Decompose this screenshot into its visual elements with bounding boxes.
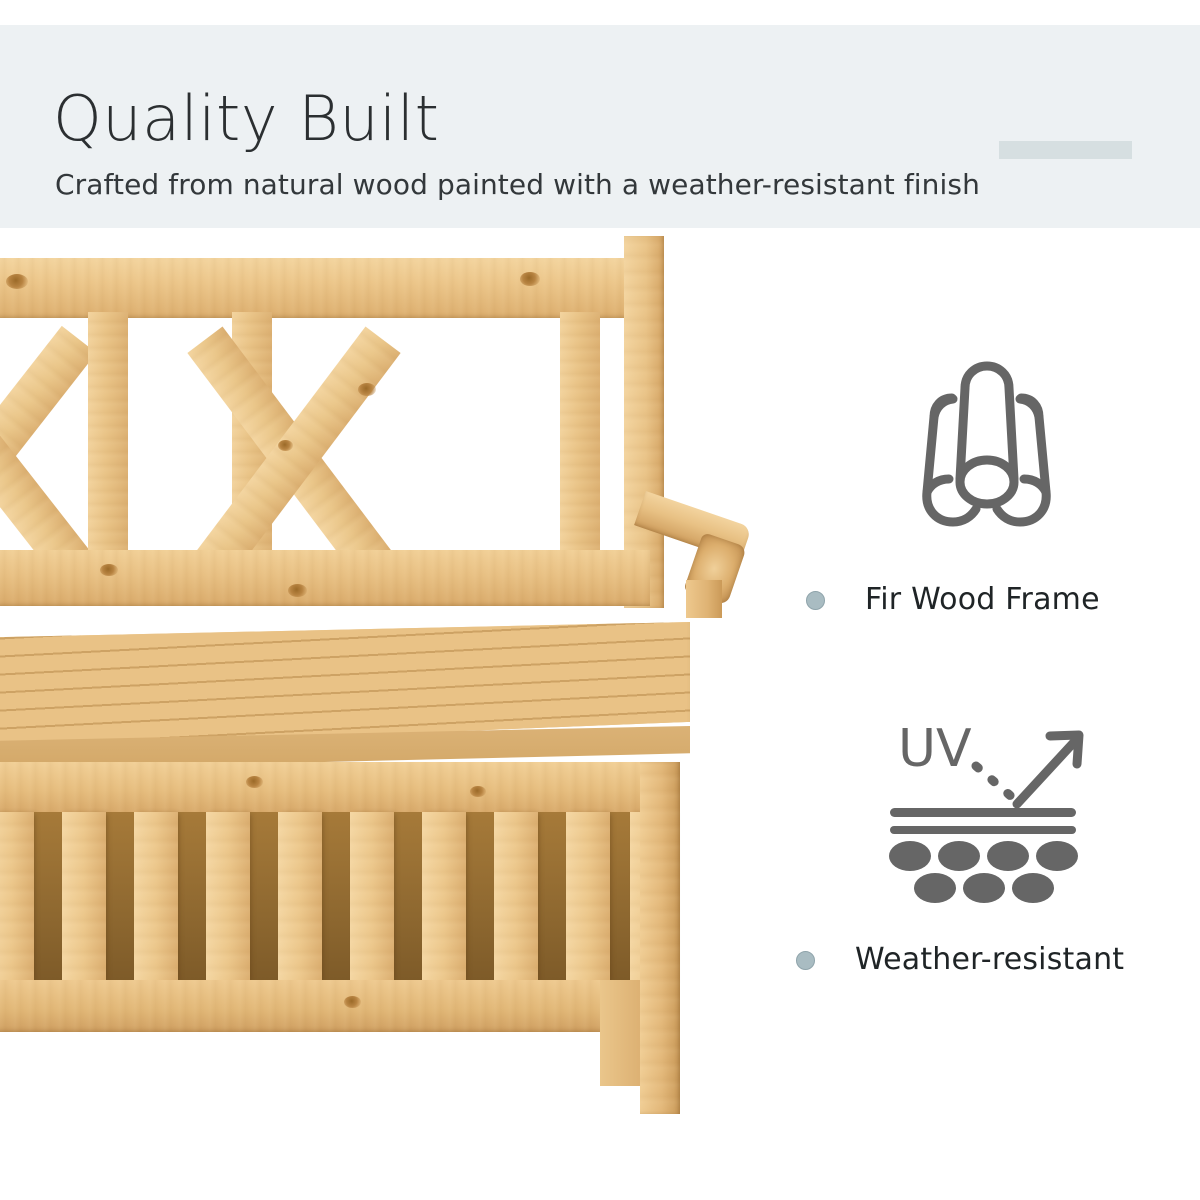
- storage-box-slat: [134, 812, 178, 984]
- storage-box-slat: [0, 812, 34, 984]
- page-subtitle: Crafted from natural wood painted with a…: [55, 168, 980, 202]
- storage-box-slat: [566, 812, 610, 984]
- feature-label-weather-resistant: Weather-resistant: [855, 942, 1124, 978]
- feature-label-row: Weather-resistant: [790, 942, 1200, 978]
- surface-line-bottom: [890, 826, 1076, 834]
- header-banner: Quality Built Crafted from natural wood …: [0, 25, 1200, 228]
- surface-line-top: [890, 808, 1076, 817]
- feature-label-fir-wood-frame: Fir Wood Frame: [865, 582, 1100, 618]
- backrest-bottom-rail: [0, 550, 650, 606]
- uv-text: UV: [898, 719, 972, 779]
- brand-logo-placeholder: [999, 141, 1132, 159]
- infographic-page: Quality Built Crafted from natural wood …: [0, 0, 1200, 1200]
- bench-leg-inner: [600, 980, 642, 1086]
- storage-box-slat: [206, 812, 250, 984]
- storage-box-slat: [494, 812, 538, 984]
- backrest-slat: [560, 312, 600, 556]
- storage-box-slat: [62, 812, 106, 984]
- bench-leg-right: [640, 762, 680, 1114]
- wooden-storage-bench-photo: [0, 228, 790, 1200]
- uv-weather-resistant-icon: UV: [880, 708, 1110, 908]
- storage-box-slat: [278, 812, 322, 984]
- storage-box-slat: [350, 812, 394, 984]
- feature-list: Fir Wood Frame UV: [790, 228, 1200, 1200]
- backrest-slat: [88, 312, 128, 556]
- feature-label-row: Fir Wood Frame: [790, 582, 1200, 618]
- armrest-support-post: [686, 580, 722, 618]
- storage-box-slat: [422, 812, 466, 984]
- page-title: Quality Built: [53, 83, 439, 155]
- bullet-icon: [796, 951, 815, 970]
- storage-box-apron: [0, 762, 680, 814]
- material-particles: [889, 841, 1078, 903]
- feature-item-fir-wood-frame: Fir Wood Frame: [790, 358, 1200, 618]
- backrest-top-rail: [0, 258, 650, 318]
- feature-item-weather-resistant: UV: [790, 708, 1200, 978]
- bullet-icon: [806, 591, 825, 610]
- storage-box-base-rail: [0, 980, 680, 1032]
- wood-logs-icon: [895, 358, 1095, 548]
